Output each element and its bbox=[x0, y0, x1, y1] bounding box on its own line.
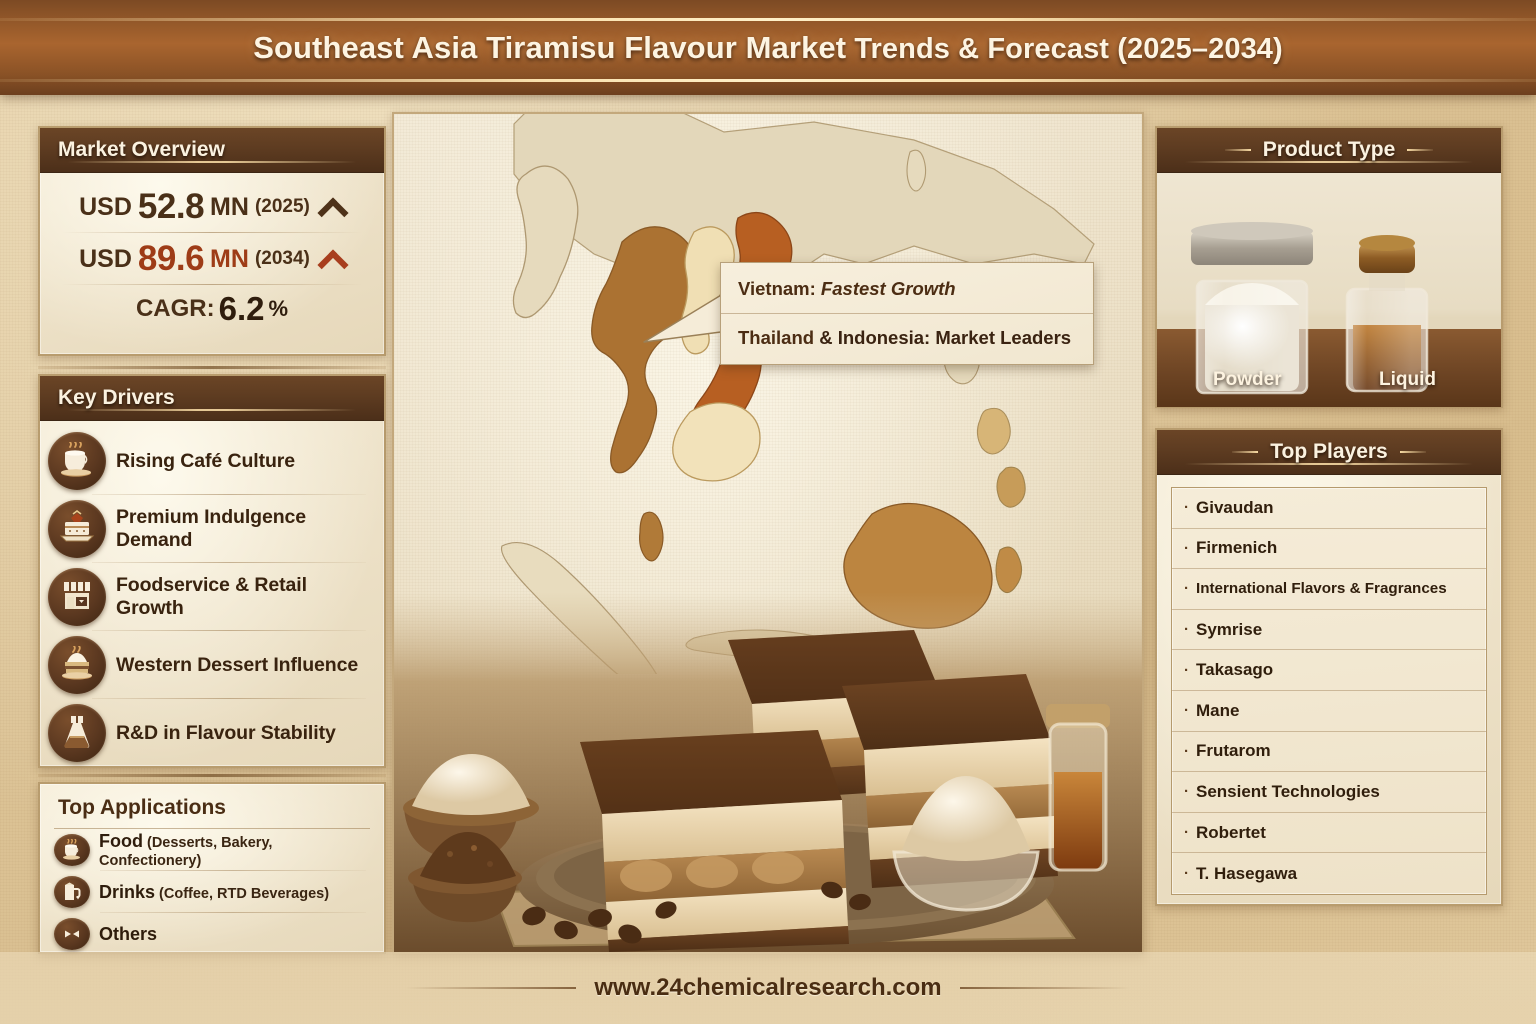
top-applications-panel: Top Applications Food(Desserts, Bakery, … bbox=[38, 782, 386, 954]
key-driver-label: Rising Café Culture bbox=[116, 450, 295, 473]
bullet-icon: · bbox=[1184, 621, 1189, 638]
market-value-2025-row: USD 52.8 MN (2025) bbox=[56, 181, 368, 233]
callout-row-vietnam: Vietnam: Fastest Growth bbox=[721, 265, 1093, 314]
bullet-icon: · bbox=[1184, 540, 1189, 557]
footer: www.24chemicalresearch.com bbox=[0, 952, 1536, 1024]
application-name: Drinks bbox=[99, 882, 155, 902]
top-player-item[interactable]: ·Frutarom bbox=[1172, 732, 1486, 773]
top-player-item[interactable]: ·Givaudan bbox=[1172, 488, 1486, 529]
market-value-2025: 52.8 bbox=[138, 187, 204, 227]
market-overview-title: Market Overview bbox=[40, 138, 225, 162]
header-dash-right bbox=[1407, 149, 1433, 151]
currency-label-2025: USD bbox=[79, 193, 132, 222]
bullet-icon: · bbox=[1184, 662, 1189, 679]
key-driver-item[interactable]: Western Dessert Influence bbox=[48, 631, 372, 699]
page-title: Southeast Asia Tiramisu Flavour Market T… bbox=[253, 30, 1283, 66]
tiramisu-product-photo bbox=[394, 592, 1144, 952]
key-drivers-panel: Key Drivers Rising Café Culture bbox=[38, 374, 386, 768]
top-player-name: Robertet bbox=[1196, 823, 1266, 843]
market-overview-body: USD 52.8 MN (2025) USD 89.6 MN (2034) CA… bbox=[40, 173, 384, 343]
cake-slice-icon bbox=[48, 500, 106, 558]
cagr-value: 6.2 bbox=[219, 290, 265, 328]
key-drivers-header: Key Drivers bbox=[40, 376, 384, 421]
top-player-name: T. Hasegawa bbox=[1196, 864, 1297, 884]
currency-label-2034: USD bbox=[79, 245, 132, 274]
header-dash-left bbox=[1232, 451, 1258, 453]
market-value-2034: 89.6 bbox=[138, 239, 204, 279]
market-year-2034: (2034) bbox=[255, 248, 310, 270]
bullet-icon: · bbox=[1184, 783, 1189, 800]
top-player-item[interactable]: ·Mane bbox=[1172, 691, 1486, 732]
bullet-icon: · bbox=[1184, 743, 1189, 760]
top-players-panel: Top Players ·Givaudan ·Firmenich ·Intern… bbox=[1155, 428, 1503, 906]
product-type-label-powder: Powder bbox=[1213, 369, 1282, 391]
top-player-name: Firmenich bbox=[1196, 538, 1277, 558]
product-type-header: Product Type bbox=[1157, 128, 1501, 173]
top-player-name: International Flavors & Fragrances bbox=[1196, 580, 1447, 597]
top-players-list: ·Givaudan ·Firmenich ·International Flav… bbox=[1171, 487, 1487, 895]
coffee-cup-icon bbox=[48, 432, 106, 490]
cagr-percent-sign: % bbox=[268, 296, 288, 322]
top-applications-title: Top Applications bbox=[54, 794, 370, 829]
application-name: Food bbox=[99, 831, 143, 851]
product-type-label-liquid: Liquid bbox=[1379, 369, 1436, 391]
market-value-2034-row: USD 89.6 MN (2034) bbox=[56, 233, 368, 285]
top-application-item[interactable]: Others bbox=[54, 913, 370, 955]
top-player-item[interactable]: ·Sensient Technologies bbox=[1172, 772, 1486, 813]
top-player-item[interactable]: ·Firmenich bbox=[1172, 529, 1486, 570]
title-banner: Southeast Asia Tiramisu Flavour Market T… bbox=[0, 0, 1536, 95]
footer-rule-right bbox=[960, 987, 1130, 989]
product-type-panel: Product Type bbox=[1155, 126, 1503, 408]
product-type-title: Product Type bbox=[1263, 138, 1396, 162]
trend-up-icon bbox=[319, 200, 345, 215]
top-player-item[interactable]: ·T. Hasegawa bbox=[1172, 853, 1486, 894]
bullet-icon: · bbox=[1184, 824, 1189, 841]
callout-vietnam-value: Fastest Growth bbox=[816, 278, 956, 299]
top-player-item[interactable]: ·Symrise bbox=[1172, 610, 1486, 651]
panel-divider-2 bbox=[38, 774, 386, 777]
product-type-stage: Powder Liquid bbox=[1157, 173, 1501, 407]
top-application-item[interactable]: Drinks(Coffee, RTD Beverages) bbox=[54, 871, 370, 913]
key-driver-item[interactable]: Rising Café Culture bbox=[48, 427, 372, 495]
page-title-main: Southeast Asia Tiramisu Flavour Market bbox=[253, 30, 846, 65]
application-detail: (Coffee, RTD Beverages) bbox=[159, 886, 329, 902]
header-dash-right bbox=[1400, 451, 1426, 453]
callout-leaders-value: & Indonesia: Market Leaders bbox=[814, 327, 1071, 348]
top-players-header: Top Players bbox=[1157, 430, 1501, 475]
map-callout: Vietnam: Fastest Growth Thailand & Indon… bbox=[720, 262, 1094, 365]
key-driver-label: R&D in Flavour Stability bbox=[116, 722, 336, 745]
key-drivers-list: Rising Café Culture Premium Indulgence D… bbox=[40, 421, 384, 771]
market-unit-2025: MN bbox=[210, 193, 249, 222]
top-player-item[interactable]: ·Robertet bbox=[1172, 813, 1486, 854]
key-driver-label: Western Dessert Influence bbox=[116, 654, 358, 677]
header-dash-left bbox=[1225, 149, 1251, 151]
top-application-item[interactable]: Food(Desserts, Bakery, Confectionery) bbox=[54, 829, 370, 871]
southeast-asia-map[interactable]: Vietnam: Fastest Growth Thailand & Indon… bbox=[394, 114, 1142, 952]
key-drivers-title: Key Drivers bbox=[40, 386, 175, 410]
top-player-item[interactable]: ·International Flavors & Fragrances bbox=[1172, 569, 1486, 610]
page-title-sub: Trends & Forecast (2025–2034) bbox=[846, 33, 1283, 65]
ellipsis-icon bbox=[54, 918, 90, 950]
flask-icon bbox=[48, 704, 106, 762]
storefront-icon bbox=[48, 568, 106, 626]
callout-thailand-label: Thailand bbox=[738, 327, 814, 348]
key-driver-item[interactable]: R&D in Flavour Stability bbox=[48, 699, 372, 767]
map-shapes bbox=[394, 114, 1144, 674]
bullet-icon: · bbox=[1184, 702, 1189, 719]
bullet-icon: · bbox=[1184, 865, 1189, 882]
center-visual-panel: Vietnam: Fastest Growth Thailand & Indon… bbox=[392, 112, 1144, 954]
callout-vietnam-label: Vietnam: bbox=[738, 278, 816, 299]
tiramisu-scene bbox=[394, 592, 1144, 952]
top-player-name: Frutarom bbox=[1196, 741, 1271, 761]
key-driver-label: Premium Indulgence Demand bbox=[116, 506, 372, 552]
top-player-name: Givaudan bbox=[1196, 498, 1273, 518]
top-player-name: Mane bbox=[1196, 701, 1239, 721]
top-players-title: Top Players bbox=[1270, 440, 1388, 464]
top-player-name: Symrise bbox=[1196, 620, 1262, 640]
beverage-carton-icon bbox=[54, 876, 90, 908]
key-driver-item[interactable]: Premium Indulgence Demand bbox=[48, 495, 372, 563]
key-driver-item[interactable]: Foodservice & Retail Growth bbox=[48, 563, 372, 631]
top-player-name: Sensient Technologies bbox=[1196, 782, 1380, 802]
callout-row-leaders: Thailand & Indonesia: Market Leaders bbox=[721, 314, 1093, 362]
cagr-label: CAGR: bbox=[136, 295, 215, 323]
top-player-item[interactable]: ·Takasago bbox=[1172, 650, 1486, 691]
bullet-icon: · bbox=[1184, 580, 1189, 597]
market-overview-panel: Market Overview USD 52.8 MN (2025) USD 8… bbox=[38, 126, 386, 356]
footer-website-url[interactable]: www.24chemicalresearch.com bbox=[594, 974, 941, 1002]
key-driver-label: Foodservice & Retail Growth bbox=[116, 574, 372, 620]
product-containers bbox=[1157, 173, 1501, 407]
coffee-cup-icon bbox=[54, 834, 90, 866]
cagr-row: CAGR: 6.2 % bbox=[56, 285, 368, 333]
market-year-2025: (2025) bbox=[255, 196, 310, 218]
trend-up-icon-accent bbox=[319, 252, 345, 267]
footer-rule-left bbox=[406, 987, 576, 989]
market-unit-2034: MN bbox=[210, 245, 249, 274]
panel-divider bbox=[38, 366, 386, 369]
application-name: Others bbox=[99, 924, 157, 944]
top-player-name: Takasago bbox=[1196, 660, 1273, 680]
bullet-icon: · bbox=[1184, 499, 1189, 516]
market-overview-header: Market Overview bbox=[40, 128, 384, 173]
dessert-stack-icon bbox=[48, 636, 106, 694]
